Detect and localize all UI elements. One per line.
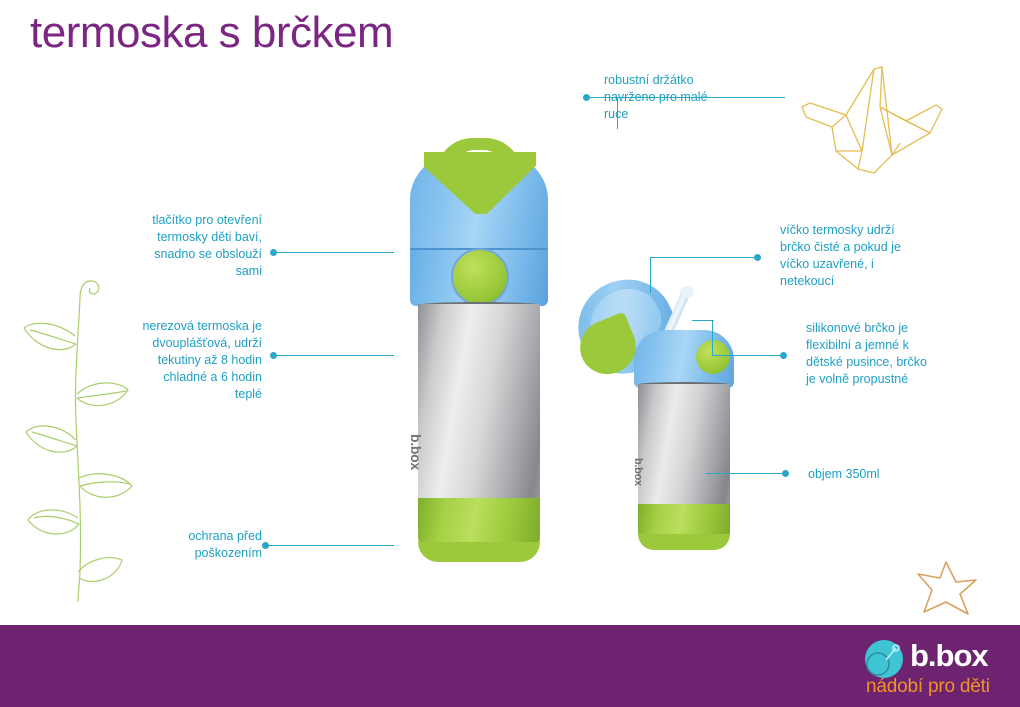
brand-logo: b.box nádobí pro děti [862,634,1010,700]
logo-wordmark: b.box [910,638,988,674]
annotation-straw: silikonové brčko je flexibilní a jemné k… [806,320,978,388]
leader-straw-vertical [712,320,713,356]
origami-crane-decoration [800,55,1015,180]
annotation-insulation: nerezová termoska je dvouplášťová, udrží… [104,318,262,403]
annotation-lid: víčko termosky udrží brčko čisté a pokud… [780,222,950,290]
leader-handle-vertical [617,97,618,129]
leader-handle-stub [586,97,618,98]
small-bottle-brand-mark: b.box [632,458,644,486]
bottle-steel-body [418,304,540,516]
leader-lid-vertical [650,257,651,293]
annotation-open-button: tlačítko pro otevření termosky děti baví… [110,212,262,280]
bottle-open-button [451,248,509,306]
bottle-base-bottom [418,542,540,562]
page-title: termoska s brčkem [30,8,393,58]
product-image-large-bottle: b.box [388,138,570,570]
leader-straw-stub [692,320,714,321]
leader-straw-horizontal [712,355,782,356]
leader-open-button-line [276,252,394,253]
leader-volume-line [706,473,784,474]
small-bottle-steel-body [638,384,730,516]
small-bottle-base-bottom [638,534,730,550]
annotation-volume: objem 350ml [808,466,948,483]
leader-lid-horizontal [650,257,756,258]
bottle-brand-mark: b.box [408,434,424,470]
product-image-small-bottle: b.box [600,278,750,570]
annotation-protection: ochrana před poškozením [140,528,262,562]
star-outline-decoration [916,558,978,618]
infographic-page: termoska s brčkem b.box b.box robustní d… [0,0,1020,707]
leader-insulation-line [276,355,394,356]
straw-tip [680,286,694,298]
logo-tagline: nádobí pro děti [866,676,990,698]
leader-protection-line [268,545,394,546]
leader-handle-horizontal [617,97,785,98]
